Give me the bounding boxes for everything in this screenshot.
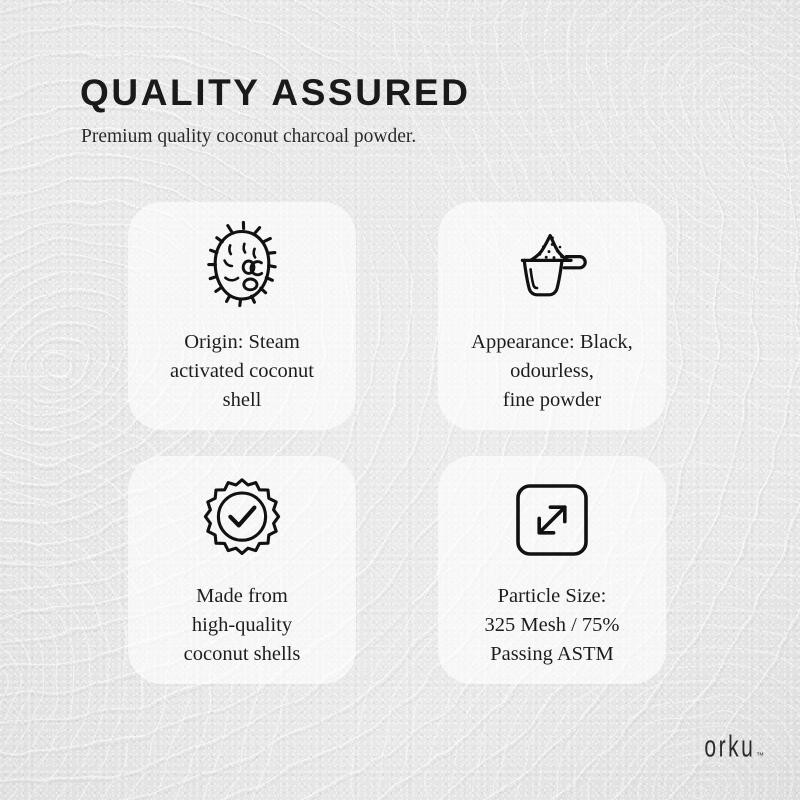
measuring-scoop-powder-icon	[506, 220, 598, 312]
feature-card-text: Particle Size: 325 Mesh / 75% Passing AS…	[479, 582, 626, 669]
brand-logo: orku ™	[690, 735, 764, 762]
trademark-symbol: ™	[756, 752, 764, 760]
feature-card-made-from[interactable]: Made from high-quality coconut shells	[128, 456, 356, 684]
feature-card-text: Made from high-quality coconut shells	[178, 582, 307, 669]
quality-badge-check-icon	[196, 474, 288, 566]
particle-size-expand-icon	[506, 474, 598, 566]
brand-name: orku	[704, 732, 755, 762]
feature-card-grid: Origin: Steam activated coconut shell	[128, 202, 666, 684]
feature-card-appearance[interactable]: Appearance: Black, odourless, fine powde…	[438, 202, 666, 430]
page-subtitle: Premium quality coconut charcoal powder.	[81, 127, 471, 147]
feature-card-origin[interactable]: Origin: Steam activated coconut shell	[128, 202, 356, 430]
feature-card-text: Appearance: Black, odourless, fine powde…	[465, 328, 639, 415]
page-title: QUALITY ASSURED	[80, 74, 471, 111]
feature-card-particle-size[interactable]: Particle Size: 325 Mesh / 75% Passing AS…	[438, 456, 666, 684]
product-infographic: QUALITY ASSURED Premium quality coconut …	[0, 0, 800, 800]
feature-card-text: Origin: Steam activated coconut shell	[164, 328, 320, 415]
coconut-icon	[196, 220, 288, 312]
header-block: QUALITY ASSURED Premium quality coconut …	[80, 74, 471, 147]
